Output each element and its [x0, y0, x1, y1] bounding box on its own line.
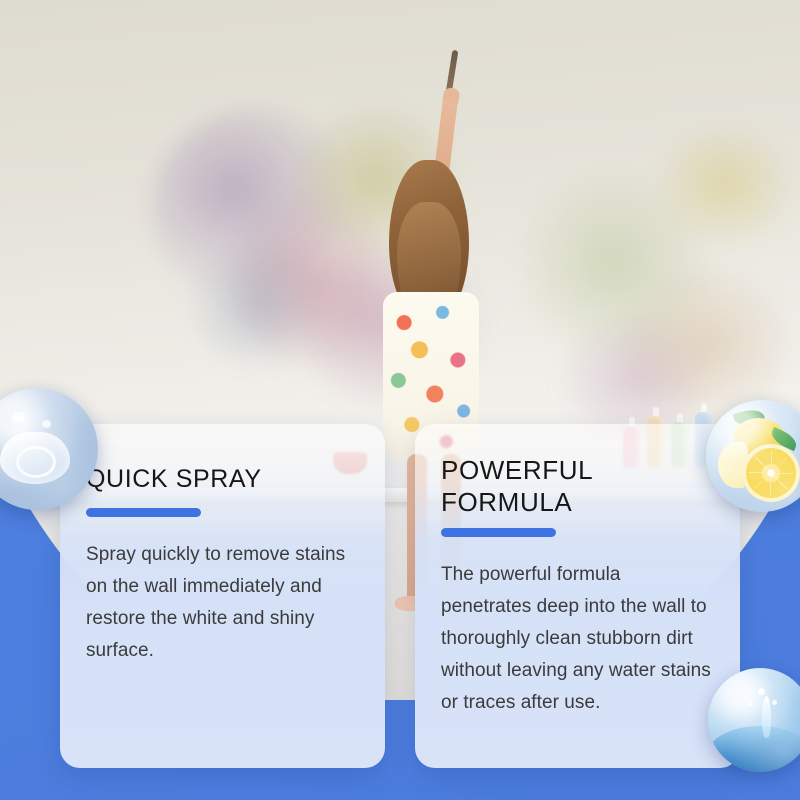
- water-droplet: [758, 688, 765, 695]
- feature-card-title: QUICK SPRAY: [86, 464, 359, 495]
- water-droplet: [42, 420, 51, 428]
- water-droplet: [12, 412, 25, 423]
- crayon-scribble: [640, 110, 800, 260]
- feature-card-title: POWERFUL FORMULA: [441, 454, 714, 518]
- accent-bar: [441, 528, 556, 537]
- feature-card-powerful-formula: POWERFUL FORMULA The powerful formula pe…: [415, 424, 740, 768]
- spray-glass-shape: [0, 432, 70, 484]
- feature-card-body: QUICK SPRAY Spray quickly to remove stai…: [60, 424, 385, 667]
- product-feature-banner: QUICK SPRAY Spray quickly to remove stai…: [0, 0, 800, 800]
- accent-bar: [86, 508, 201, 517]
- feature-card-quick-spray: QUICK SPRAY Spray quickly to remove stai…: [60, 424, 385, 768]
- lemon-slice: [742, 444, 800, 502]
- water-splash: [762, 696, 771, 738]
- water-wave: [708, 726, 800, 772]
- feature-card-text: Spray quickly to remove stains on the wa…: [86, 539, 359, 667]
- water-droplet: [748, 702, 752, 706]
- water-splash-bubble-icon: [708, 668, 800, 772]
- water-droplet: [772, 700, 777, 705]
- leaf-icon: [768, 427, 799, 451]
- lemon-whole: [734, 418, 784, 456]
- feature-card-text: The powerful formula penetrates deep int…: [441, 559, 714, 719]
- lemon-wedge: [718, 442, 748, 488]
- leaf-icon: [733, 406, 766, 429]
- crayon-scribble: [175, 230, 335, 380]
- feature-card-body: POWERFUL FORMULA The powerful formula pe…: [415, 424, 740, 719]
